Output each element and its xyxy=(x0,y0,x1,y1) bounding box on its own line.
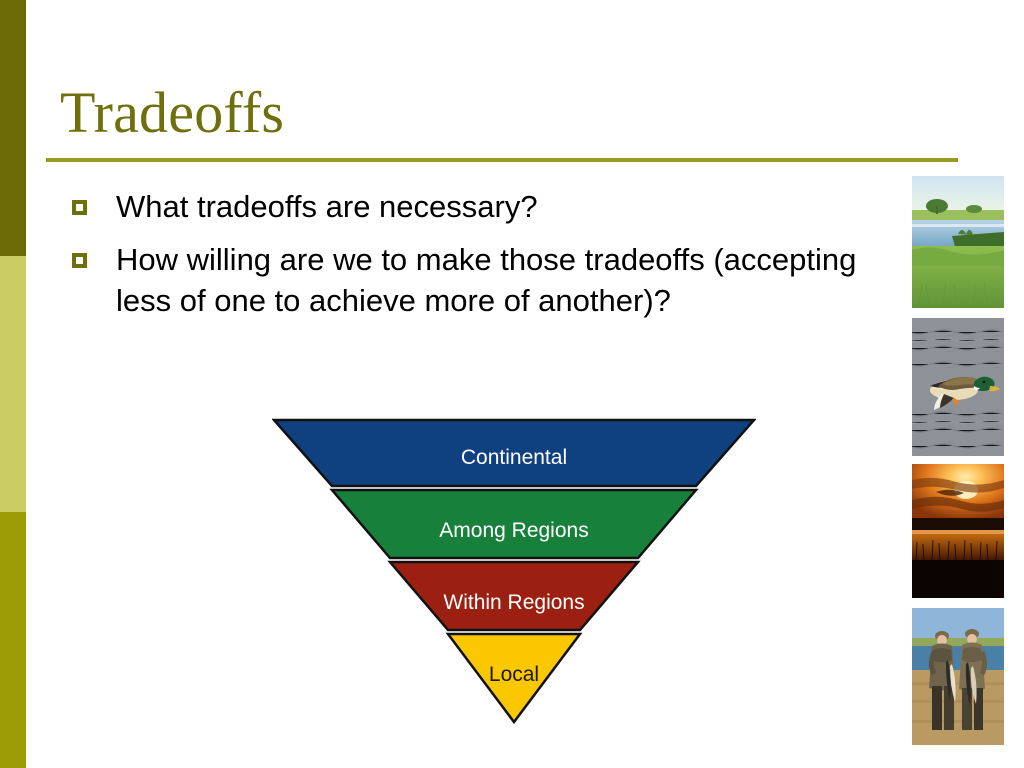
list-item: How willing are we to make those tradeof… xyxy=(72,239,892,321)
slide-canvas: Tradeoffs What tradeoffs are necessary? … xyxy=(0,0,1024,768)
pyramid-layer-within-regions xyxy=(390,562,638,630)
title-underline-rule xyxy=(46,158,958,162)
pyramid-layer-among-regions xyxy=(332,490,696,558)
pyramid-layer-continental xyxy=(274,420,754,486)
bullet-text: What tradeoffs are necessary? xyxy=(116,186,538,227)
left-sidebar-decoration xyxy=(0,0,26,768)
sidebar-band-middle xyxy=(0,256,26,512)
list-item: What tradeoffs are necessary? xyxy=(72,186,892,227)
marsh-sunset-photo xyxy=(912,464,1004,598)
two-hunters-with-ducks-photo xyxy=(912,608,1004,745)
bullet-text: How willing are we to make those tradeof… xyxy=(116,239,892,321)
square-bullet-icon xyxy=(72,200,87,215)
wetland-prairie-pothole-photo xyxy=(912,176,1004,308)
pyramid-layer-local xyxy=(448,634,580,722)
bullet-list: What tradeoffs are necessary? How willin… xyxy=(72,186,892,334)
sidebar-band-top xyxy=(0,0,26,256)
slide-title: Tradeoffs xyxy=(60,82,284,145)
square-bullet-icon xyxy=(72,253,87,268)
flying-mallard-duck-photo xyxy=(912,318,1004,456)
sidebar-band-bottom xyxy=(0,512,26,768)
inverted-pyramid-diagram: Continental Among Regions Within Regions… xyxy=(272,418,756,726)
